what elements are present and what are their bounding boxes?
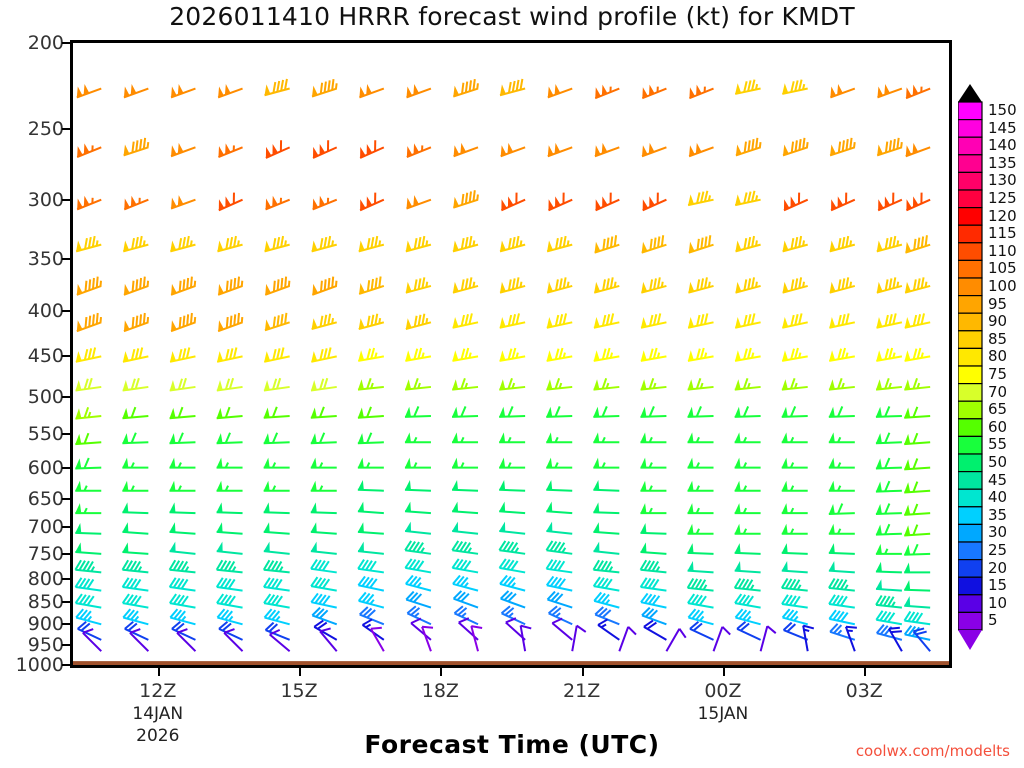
colorbar-swatch: [958, 560, 982, 578]
colorbar-tick-label: 15: [988, 576, 1007, 594]
x-axis-tick-label: 21Z: [563, 680, 600, 702]
colorbar-tick-label: 150: [988, 101, 1017, 119]
colorbar-tick-label: 80: [988, 347, 1007, 365]
colorbar-swatch: [958, 595, 982, 613]
colorbar-tick-label: 75: [988, 365, 1007, 383]
colorbar-swatch: [958, 366, 982, 384]
colorbar-swatch: [958, 190, 982, 208]
colorbar-swatch: [958, 102, 982, 120]
colorbar-tick-label: 50: [988, 453, 1007, 471]
colorbar-swatch: [958, 577, 982, 595]
colorbar-tick-label: 5: [988, 611, 998, 629]
x-axis-tick: [864, 667, 866, 676]
colorbar-swatch: [958, 436, 982, 454]
colorbar-tick-label: 145: [988, 119, 1017, 137]
colorbar-tick-label: 45: [988, 471, 1007, 489]
colorbar-swatch: [958, 454, 982, 472]
colorbar-tick-label: 20: [988, 559, 1007, 577]
x-axis-tick: [582, 667, 584, 676]
colorbar[interactable]: 1501451401351301251201151101051009590858…: [958, 84, 1024, 664]
colorbar-tick-label: 25: [988, 541, 1007, 559]
colorbar-tick-label: 125: [988, 189, 1017, 207]
x-axis-tick: [299, 667, 301, 676]
colorbar-swatch: [958, 489, 982, 507]
colorbar-bottom-arrow: [958, 630, 982, 650]
x-axis-tick-label: 03Z: [846, 680, 883, 702]
colorbar-swatch: [958, 348, 982, 366]
x-axis-tick: [723, 667, 725, 676]
x-axis-labels: 12Z14JAN202615Z18Z21Z00Z15JAN03Z: [0, 0, 1024, 768]
colorbar-swatch: [958, 120, 982, 138]
colorbar-tick-label: 130: [988, 171, 1017, 189]
x-axis-sub-label: 14JAN: [132, 704, 183, 724]
watermark: coolwx.com/modelts: [856, 742, 1010, 760]
colorbar-tick-label: 135: [988, 154, 1017, 172]
colorbar-swatch: [958, 260, 982, 278]
colorbar-tick-label: 60: [988, 418, 1007, 436]
colorbar-tick-label: 105: [988, 259, 1017, 277]
colorbar-swatch: [958, 155, 982, 173]
colorbar-tick-label: 55: [988, 435, 1007, 453]
colorbar-tick-label: 140: [988, 136, 1017, 154]
colorbar-swatch: [958, 384, 982, 402]
colorbar-swatch: [958, 243, 982, 261]
colorbar-swatch: [958, 208, 982, 226]
colorbar-tick-label: 120: [988, 207, 1017, 225]
colorbar-tick-label: 90: [988, 312, 1007, 330]
x-axis-tick-label: 12Z: [139, 680, 176, 702]
x-axis-tick-label: 00Z: [704, 680, 741, 702]
colorbar-tick-label: 65: [988, 400, 1007, 418]
colorbar-swatch: [958, 313, 982, 331]
colorbar-tick-label: 70: [988, 383, 1007, 401]
colorbar-tick-label: 115: [988, 224, 1017, 242]
x-axis-tick: [158, 667, 160, 676]
colorbar-swatch: [958, 172, 982, 190]
colorbar-top-arrow: [958, 84, 982, 102]
colorbar-tick-label: 110: [988, 242, 1017, 260]
colorbar-tick-label: 100: [988, 277, 1017, 295]
colorbar-swatch: [958, 137, 982, 155]
colorbar-swatch: [958, 419, 982, 437]
colorbar-swatch: [958, 296, 982, 314]
colorbar-tick-label: 10: [988, 594, 1007, 612]
colorbar-swatches: [958, 84, 988, 664]
x-axis-tick-label: 15Z: [280, 680, 317, 702]
colorbar-tick-label: 35: [988, 506, 1007, 524]
colorbar-swatch: [958, 401, 982, 419]
colorbar-tick-label: 95: [988, 295, 1007, 313]
colorbar-tick-label: 40: [988, 488, 1007, 506]
x-axis-sub-label: 15JAN: [698, 704, 749, 724]
colorbar-swatch: [958, 472, 982, 490]
colorbar-tick-label: 85: [988, 330, 1007, 348]
x-axis-tick-label: 18Z: [422, 680, 459, 702]
colorbar-swatch: [958, 612, 982, 630]
colorbar-swatch: [958, 225, 982, 243]
colorbar-swatch: [958, 278, 982, 296]
colorbar-swatch: [958, 507, 982, 525]
x-axis-tick: [440, 667, 442, 676]
colorbar-tick-label: 30: [988, 523, 1007, 541]
colorbar-swatch: [958, 542, 982, 560]
colorbar-swatch: [958, 524, 982, 542]
colorbar-swatch: [958, 331, 982, 349]
